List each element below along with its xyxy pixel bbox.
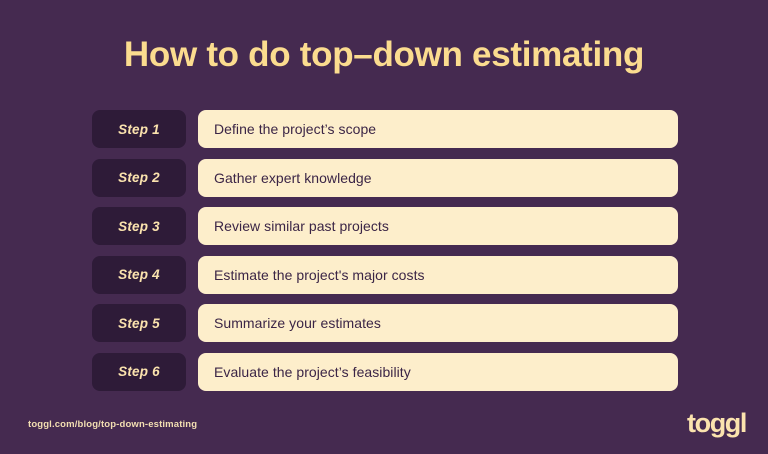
step-badge-4: Step 4 (92, 256, 186, 294)
step-row: Step 2 Gather expert knowledge (92, 159, 678, 197)
step-badge-1: Step 1 (92, 110, 186, 148)
step-badge-6: Step 6 (92, 353, 186, 391)
step-card-1: Define the project’s scope (198, 110, 678, 148)
step-row: Step 4 Estimate the project's major cost… (92, 256, 678, 294)
step-card-6: Evaluate the project’s feasibility (198, 353, 678, 391)
step-badge-2: Step 2 (92, 159, 186, 197)
steps-list: Step 1 Define the project’s scope Step 2… (92, 110, 678, 401)
step-badge-label: Step 1 (118, 122, 160, 137)
step-badge-label: Step 5 (118, 316, 160, 331)
step-card-label: Estimate the project's major costs (198, 267, 439, 283)
step-row: Step 3 Review similar past projects (92, 207, 678, 245)
step-card-3: Review similar past projects (198, 207, 678, 245)
toggl-logo: toggl (687, 408, 746, 438)
step-row: Step 6 Evaluate the project’s feasibilit… (92, 353, 678, 391)
step-badge-label: Step 4 (118, 267, 160, 282)
step-row: Step 5 Summarize your estimates (92, 304, 678, 342)
step-card-label: Review similar past projects (198, 218, 403, 234)
step-card-label: Evaluate the project’s feasibility (198, 364, 425, 380)
step-card-label: Define the project’s scope (198, 121, 390, 137)
source-url: toggl.com/blog/top-down-estimating (28, 419, 197, 430)
step-card-5: Summarize your estimates (198, 304, 678, 342)
step-card-2: Gather expert knowledge (198, 159, 678, 197)
step-row: Step 1 Define the project’s scope (92, 110, 678, 148)
step-badge-label: Step 2 (118, 170, 160, 185)
step-card-label: Gather expert knowledge (198, 170, 386, 186)
step-badge-5: Step 5 (92, 304, 186, 342)
step-badge-label: Step 3 (118, 219, 160, 234)
step-badge-label: Step 6 (118, 364, 160, 379)
step-badge-3: Step 3 (92, 207, 186, 245)
step-card-4: Estimate the project's major costs (198, 256, 678, 294)
page-title: How to do top–down estimating (0, 34, 768, 76)
infographic-poster: How to do top–down estimating Step 1 Def… (0, 0, 768, 454)
step-card-label: Summarize your estimates (198, 315, 395, 331)
